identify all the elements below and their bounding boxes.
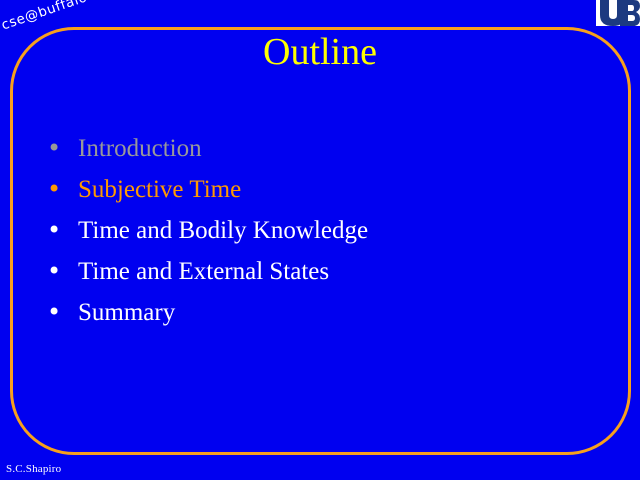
- list-item[interactable]: • Time and External States: [47, 256, 587, 297]
- list-item[interactable]: • Introduction: [47, 133, 587, 174]
- presentation-slide: cse@buffalo Outline • Introduction • Sub…: [0, 0, 640, 480]
- bullet-icon: •: [47, 297, 78, 327]
- list-item[interactable]: • Time and Bodily Knowledge: [47, 215, 587, 256]
- list-item[interactable]: • Subjective Time: [47, 174, 587, 215]
- slide-footer-author: S.C.Shapiro: [6, 462, 61, 476]
- cse-buffalo-logo-text: cse@buffalo: [0, 0, 89, 34]
- ub-logo: [596, 0, 640, 26]
- slide-title: Outline: [0, 30, 640, 74]
- bullet-icon: •: [47, 256, 78, 286]
- list-item-label: Introduction: [78, 134, 202, 164]
- outline-list: • Introduction • Subjective Time • Time …: [47, 133, 587, 338]
- bullet-icon: •: [47, 174, 78, 204]
- list-item-label: Time and Bodily Knowledge: [78, 216, 368, 246]
- bullet-icon: •: [47, 215, 78, 245]
- list-item-label: Subjective Time: [78, 175, 241, 205]
- list-item-label: Time and External States: [78, 257, 329, 287]
- list-item-label: Summary: [78, 298, 175, 328]
- bullet-icon: •: [47, 133, 78, 163]
- ub-logo-mark: [596, 0, 640, 26]
- list-item[interactable]: • Summary: [47, 297, 587, 338]
